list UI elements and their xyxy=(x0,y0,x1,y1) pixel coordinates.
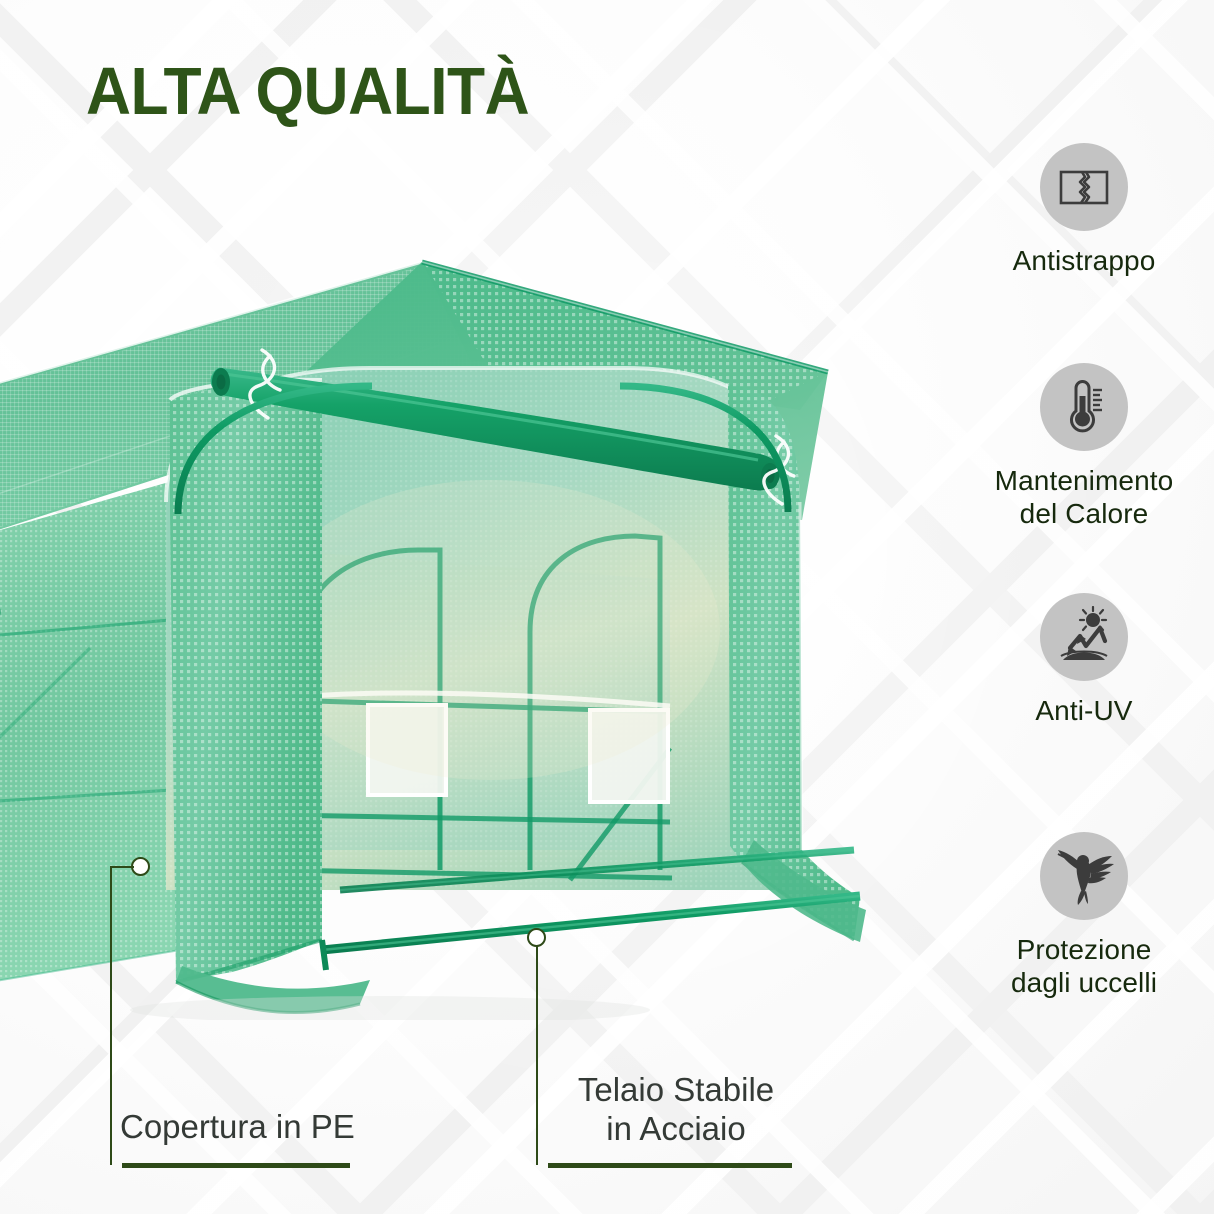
infographic-canvas: ALTA QUALITÀ xyxy=(0,0,1214,1214)
callout-label: Copertura in PE xyxy=(120,1108,355,1147)
feature-item-anti-uv: Anti-UV xyxy=(954,593,1214,727)
feature-label: Protezione dagli uccelli xyxy=(954,933,1214,999)
thermometer-icon xyxy=(1040,363,1128,451)
anti-uv-sun-icon xyxy=(1040,593,1128,681)
page-title: ALTA QUALITÀ xyxy=(86,58,529,125)
product-image-greenhouse xyxy=(0,250,930,1020)
callout-dot xyxy=(527,928,546,947)
feature-item-protezione-uccelli: Protezione dagli uccelli xyxy=(954,832,1214,999)
callout-underline xyxy=(122,1163,350,1168)
feature-label-line1: Protezione xyxy=(1017,934,1152,965)
feature-label-line2: del Calore xyxy=(1020,498,1149,529)
feature-item-mantenimento-calore: Mantenimento del Calore xyxy=(954,363,1214,530)
callout-label-line1: Telaio Stabile xyxy=(578,1071,774,1108)
callout-leader-vertical xyxy=(110,866,112,1165)
feature-label-line1: Mantenimento xyxy=(995,465,1174,496)
feature-label: Anti-UV xyxy=(954,694,1214,727)
feature-label: Antistrappo xyxy=(954,244,1214,277)
tear-resistant-icon xyxy=(1040,143,1128,231)
feature-item-antistrappo: Antistrappo xyxy=(954,143,1214,277)
callout-label-line2: in Acciaio xyxy=(606,1110,745,1147)
callout-leader-vertical xyxy=(536,946,538,1165)
callout-leader-horizontal xyxy=(110,866,134,868)
callout-label: Telaio Stabile in Acciaio xyxy=(551,1071,801,1148)
callout-underline xyxy=(548,1163,792,1168)
bird-icon xyxy=(1040,832,1128,920)
feature-label: Mantenimento del Calore xyxy=(954,464,1214,530)
feature-label-line2: dagli uccelli xyxy=(1011,967,1157,998)
